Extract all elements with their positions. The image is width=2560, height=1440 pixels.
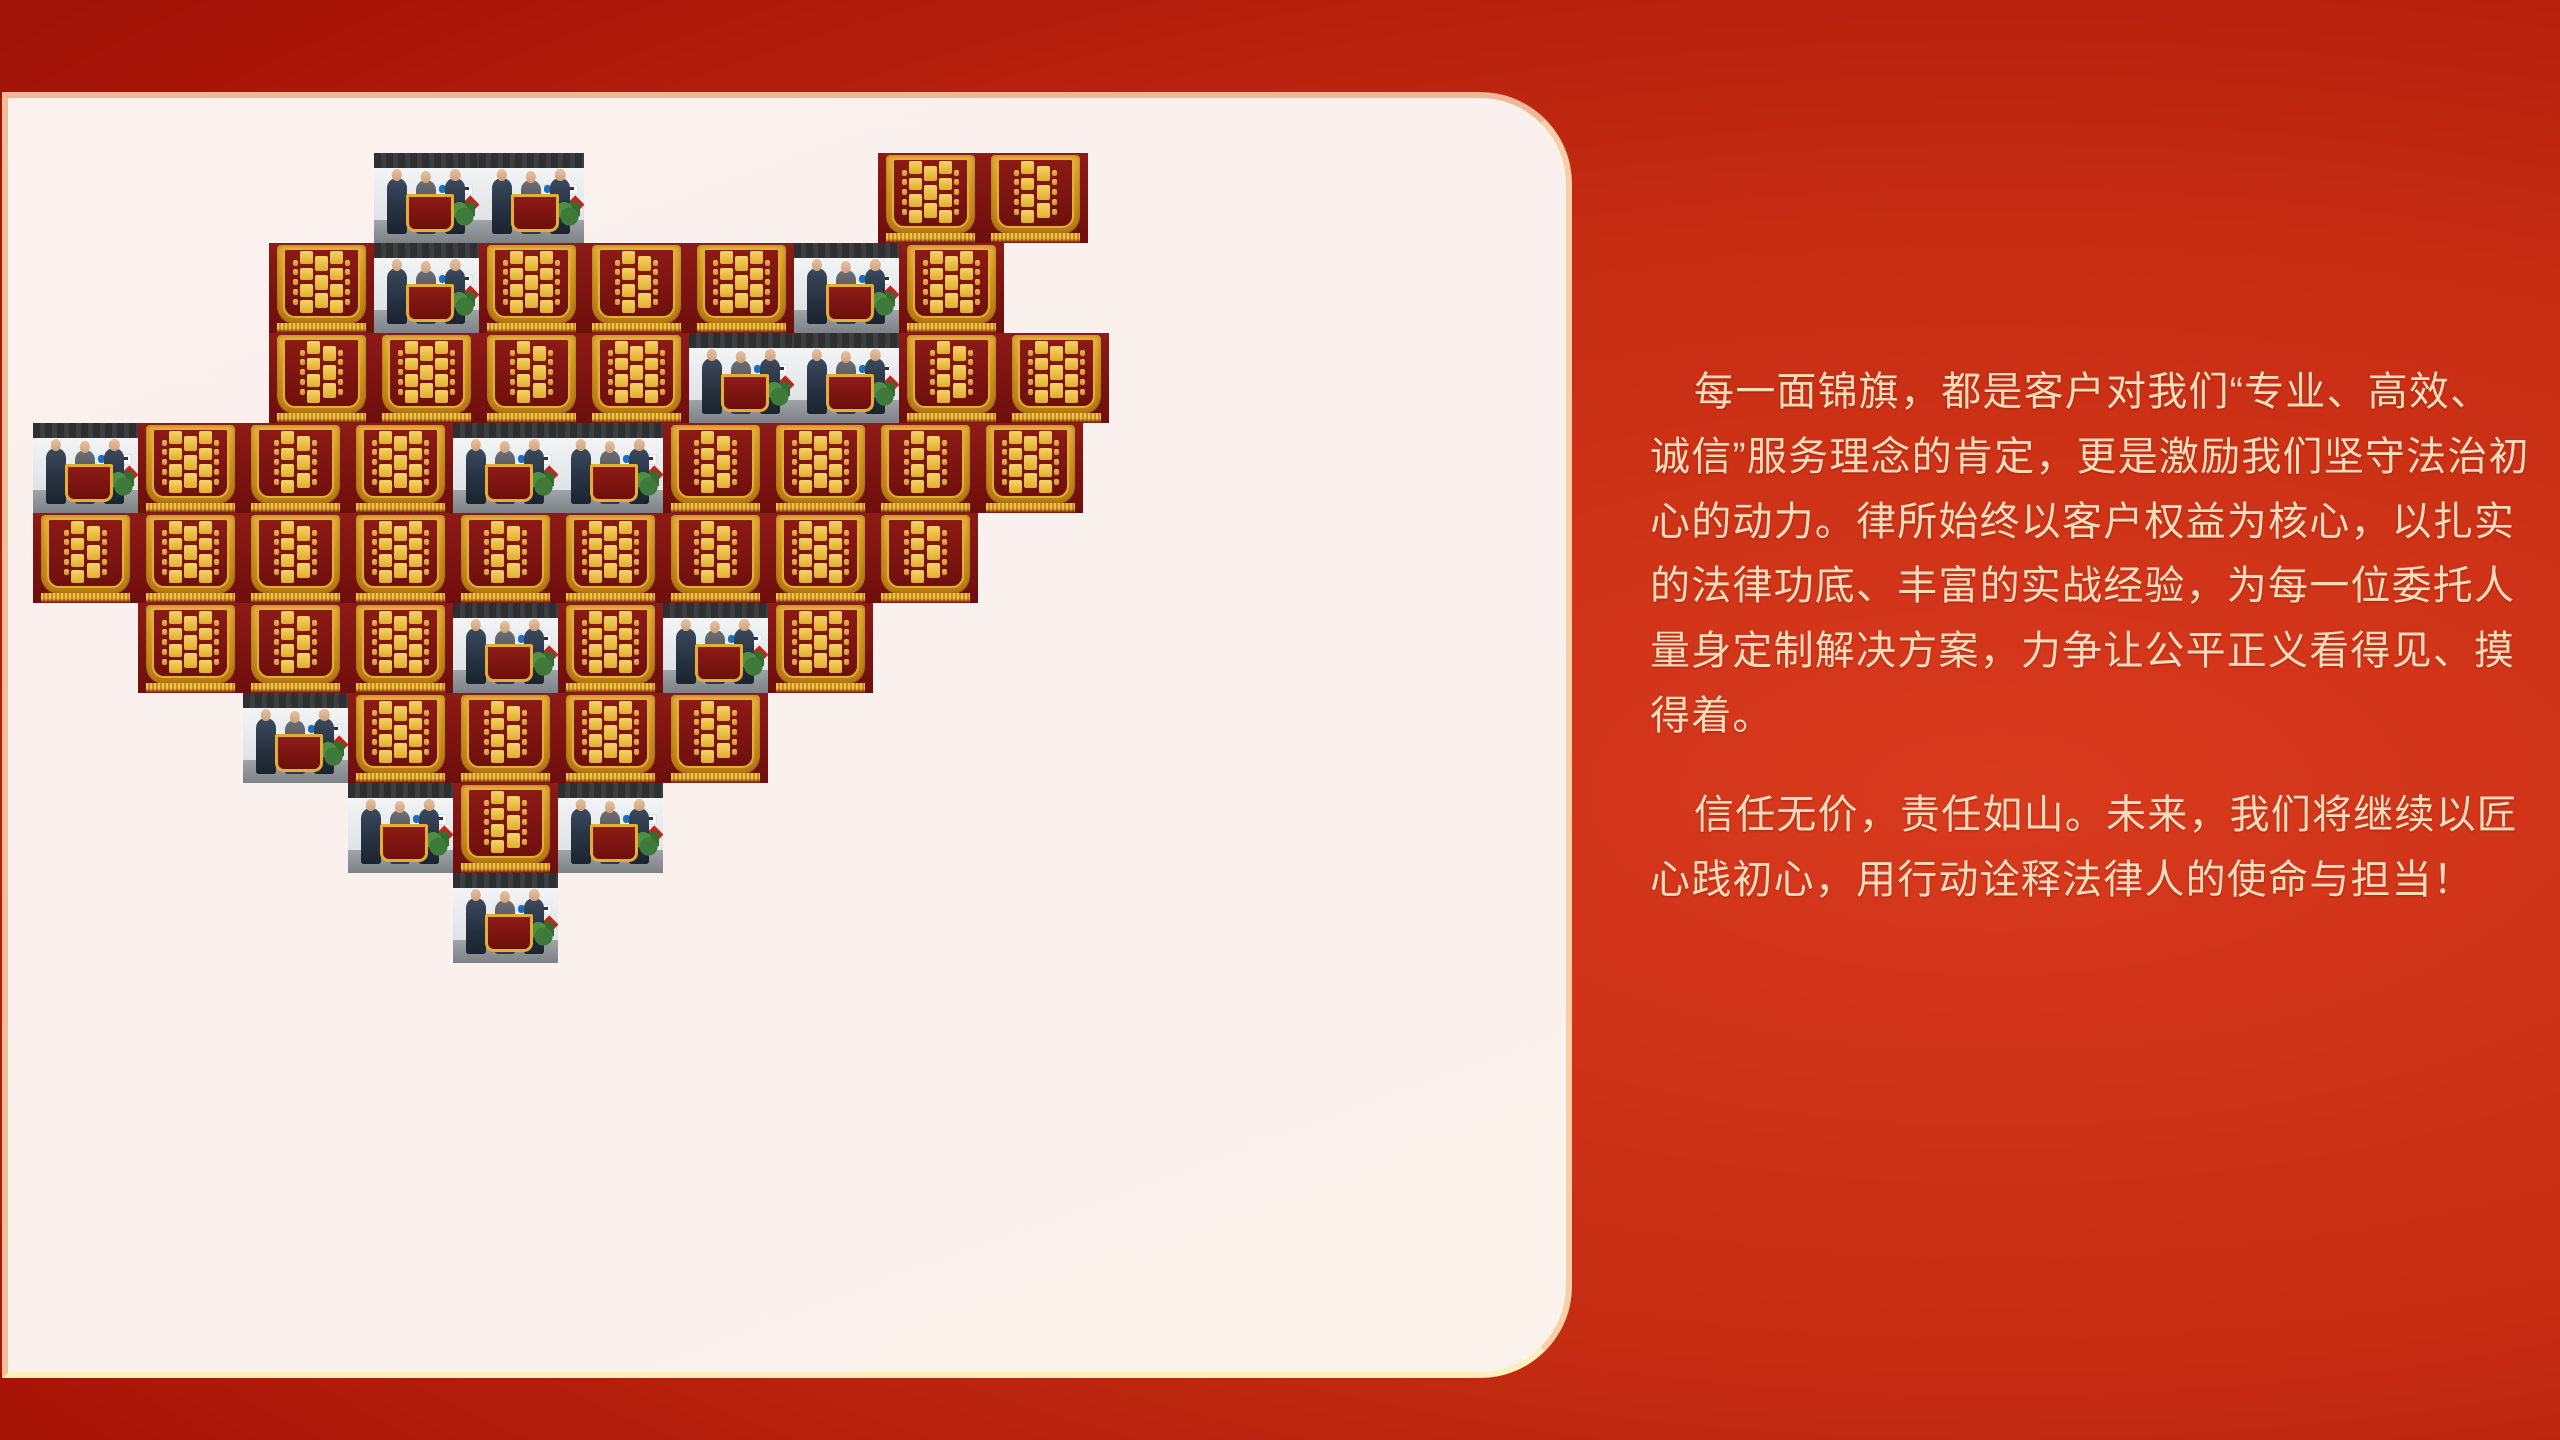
office-photo-art — [374, 153, 479, 243]
office-photo-art — [479, 153, 584, 243]
office-photo-art — [794, 333, 899, 423]
collage-tile[interactable] — [348, 783, 453, 873]
office-photo-art — [243, 693, 348, 783]
collage-tile[interactable] — [453, 603, 558, 693]
jinqi-banner-art — [584, 333, 689, 423]
jinqi-banner-art — [138, 423, 243, 513]
collage-tile[interactable] — [794, 333, 899, 423]
jinqi-banner-art — [978, 423, 1083, 513]
office-photo-art — [558, 783, 663, 873]
jinqi-banner-art — [348, 513, 453, 603]
jinqi-banner-art — [1004, 333, 1109, 423]
jinqi-banner-art — [878, 153, 983, 243]
jinqi-banner-art — [479, 243, 584, 333]
collage-tile[interactable] — [558, 513, 663, 603]
collage-tile[interactable] — [348, 423, 453, 513]
jinqi-banner-art — [453, 513, 558, 603]
collage-tile[interactable] — [374, 333, 479, 423]
jinqi-banner-art — [584, 243, 689, 333]
collage-tile[interactable] — [689, 333, 794, 423]
collage-tile[interactable] — [33, 423, 138, 513]
jinqi-photo-collage — [8, 98, 1572, 1378]
collage-tile[interactable] — [374, 153, 479, 243]
jinqi-banner-art — [243, 603, 348, 693]
collage-tile[interactable] — [269, 243, 374, 333]
collage-tile[interactable] — [1004, 333, 1109, 423]
jinqi-banner-art — [348, 603, 453, 693]
jinqi-banner-art — [558, 513, 663, 603]
collage-tile[interactable] — [453, 513, 558, 603]
jinqi-banner-art — [899, 333, 1004, 423]
jinqi-banner-art — [243, 423, 348, 513]
jinqi-banner-art — [899, 243, 1004, 333]
office-photo-art — [558, 423, 663, 513]
collage-tile[interactable] — [983, 153, 1088, 243]
jinqi-banner-art — [453, 693, 558, 783]
collage-tile[interactable] — [243, 693, 348, 783]
collage-tile[interactable] — [243, 423, 348, 513]
jinqi-banner-art — [479, 333, 584, 423]
collage-tile[interactable] — [453, 873, 558, 963]
collage-tile[interactable] — [348, 513, 453, 603]
jinqi-banner-art — [374, 333, 479, 423]
office-photo-art — [453, 873, 558, 963]
collage-tile[interactable] — [663, 513, 768, 603]
jinqi-banner-art — [243, 513, 348, 603]
collage-tile[interactable] — [584, 243, 689, 333]
collage-tile[interactable] — [899, 333, 1004, 423]
collage-tile[interactable] — [873, 513, 978, 603]
collage-tile[interactable] — [899, 243, 1004, 333]
jinqi-banner-art — [453, 783, 558, 873]
collage-tile[interactable] — [558, 693, 663, 783]
collage-tile[interactable] — [269, 333, 374, 423]
office-photo-art — [453, 423, 558, 513]
collage-tile[interactable] — [558, 603, 663, 693]
jinqi-banner-art — [768, 603, 873, 693]
photo-wall-card — [2, 92, 1572, 1378]
promo-copy-block: 每一面锦旗，都是客户对我们“专业、高效、诚信”服务理念的肯定，更是激励我们坚守法… — [1650, 360, 2530, 912]
jinqi-banner-art — [269, 243, 374, 333]
jinqi-banner-art — [663, 423, 768, 513]
collage-tile[interactable] — [453, 783, 558, 873]
jinqi-banner-art — [663, 693, 768, 783]
jinqi-banner-art — [558, 693, 663, 783]
jinqi-banner-art — [269, 333, 374, 423]
jinqi-banner-art — [768, 513, 873, 603]
collage-tile[interactable] — [138, 513, 243, 603]
office-photo-art — [33, 423, 138, 513]
collage-tile[interactable] — [794, 243, 899, 333]
collage-tile[interactable] — [768, 423, 873, 513]
office-photo-art — [689, 333, 794, 423]
collage-tile[interactable] — [453, 423, 558, 513]
collage-tile[interactable] — [374, 243, 479, 333]
collage-tile[interactable] — [663, 693, 768, 783]
collage-tile[interactable] — [138, 423, 243, 513]
collage-tile[interactable] — [138, 603, 243, 693]
jinqi-banner-art — [558, 603, 663, 693]
office-photo-art — [663, 603, 768, 693]
collage-tile[interactable] — [878, 153, 983, 243]
collage-tile[interactable] — [558, 783, 663, 873]
copy-paragraph-1: 每一面锦旗，都是客户对我们“专业、高效、诚信”服务理念的肯定，更是激励我们坚守法… — [1650, 360, 2530, 749]
collage-tile[interactable] — [978, 423, 1083, 513]
collage-tile[interactable] — [689, 243, 794, 333]
collage-tile[interactable] — [33, 513, 138, 603]
office-photo-art — [794, 243, 899, 333]
office-photo-art — [374, 243, 479, 333]
jinqi-banner-art — [983, 153, 1088, 243]
collage-tile[interactable] — [243, 513, 348, 603]
jinqi-banner-art — [348, 423, 453, 513]
collage-tile[interactable] — [558, 423, 663, 513]
collage-tile[interactable] — [243, 603, 348, 693]
jinqi-banner-art — [138, 603, 243, 693]
jinqi-banner-art — [348, 693, 453, 783]
collage-tile[interactable] — [479, 333, 584, 423]
office-photo-art — [453, 603, 558, 693]
collage-tile[interactable] — [348, 603, 453, 693]
collage-tile[interactable] — [768, 513, 873, 603]
collage-tile[interactable] — [479, 153, 584, 243]
collage-tile[interactable] — [873, 423, 978, 513]
collage-tile[interactable] — [584, 333, 689, 423]
jinqi-banner-art — [873, 513, 978, 603]
jinqi-banner-art — [663, 513, 768, 603]
jinqi-banner-art — [689, 243, 794, 333]
collage-tile[interactable] — [453, 693, 558, 783]
collage-tile[interactable] — [768, 603, 873, 693]
copy-paragraph-2: 信任无价，责任如山。未来，我们将继续以匠心践初心，用行动诠释法律人的使命与担当！ — [1650, 783, 2530, 913]
slide-root: 每一面锦旗，都是客户对我们“专业、高效、诚信”服务理念的肯定，更是激励我们坚守法… — [0, 0, 2560, 1440]
jinqi-banner-art — [138, 513, 243, 603]
collage-tile[interactable] — [663, 603, 768, 693]
collage-tile[interactable] — [479, 243, 584, 333]
jinqi-banner-art — [873, 423, 978, 513]
office-photo-art — [348, 783, 453, 873]
collage-tile[interactable] — [348, 693, 453, 783]
jinqi-banner-art — [768, 423, 873, 513]
jinqi-banner-art — [33, 513, 138, 603]
collage-tile[interactable] — [663, 423, 768, 513]
